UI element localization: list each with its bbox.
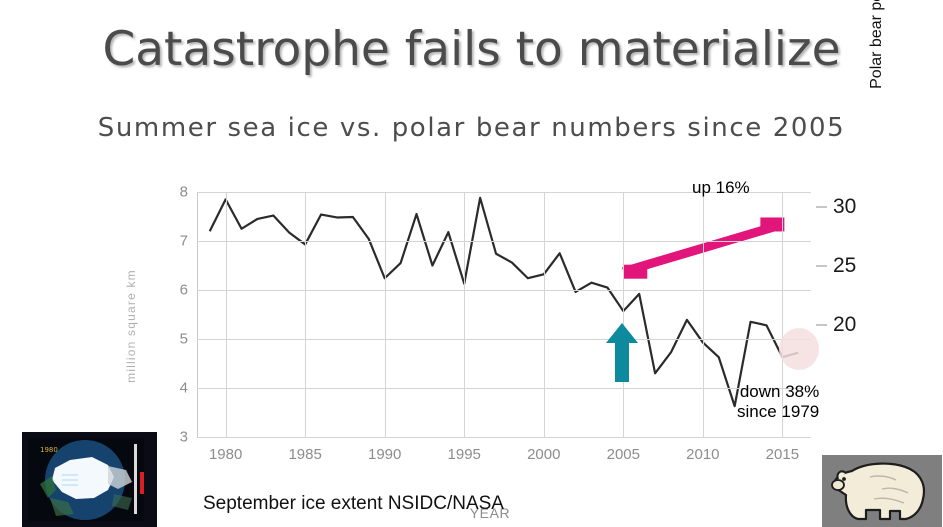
y-axis-tick-mark-right <box>816 324 827 325</box>
y-axis-tick-left: 4 <box>180 380 188 397</box>
annotation-up-16-percent: up 16% <box>692 178 750 198</box>
annotation-down-line1: down 38% <box>737 382 819 402</box>
gridline-vertical <box>464 192 465 437</box>
svg-text:1980: 1980 <box>40 446 58 454</box>
gridline-horizontal <box>197 290 811 291</box>
x-axis-tick: 2005 <box>607 446 640 463</box>
gridline-vertical <box>703 192 704 437</box>
x-axis-tick: 1985 <box>288 446 321 463</box>
gridline-vertical <box>544 192 545 437</box>
y-axis-tick-mark-right <box>816 206 827 207</box>
gridline-horizontal <box>197 388 811 389</box>
x-axis-tick: 2000 <box>527 446 560 463</box>
sea-ice-extent-line <box>210 198 799 406</box>
pink-highlight-blob <box>779 328 819 370</box>
polar-bear-illustration <box>822 455 942 527</box>
slide-root: Catastrophe fails to materialize Summer … <box>0 0 943 527</box>
polar-bear-data-marker <box>760 217 784 231</box>
y-axis-tick-right: 20 <box>833 313 856 337</box>
gridline-horizontal <box>197 241 811 242</box>
gridline-vertical <box>305 192 306 437</box>
y-axis-label-right: Polar bear population numbers (thousands… <box>868 0 886 100</box>
y-axis-tick-left: 5 <box>180 331 188 348</box>
gridline-horizontal <box>197 437 811 438</box>
y-axis-tick-right: 25 <box>833 254 856 278</box>
x-axis-tick: 1995 <box>448 446 481 463</box>
x-axis-tick: 2010 <box>686 446 719 463</box>
page-subtitle: Summer sea ice vs. polar bear numbers si… <box>0 113 943 143</box>
chart-plot-area: 3456781980198519901995200020052010201520… <box>197 192 811 437</box>
gridline-vertical <box>623 192 624 437</box>
y-axis-tick-right: 30 <box>833 195 856 219</box>
y-axis-tick-mark-right <box>816 265 827 266</box>
polar-bear-data-marker <box>623 265 647 279</box>
teal-up-arrow-icon <box>606 323 638 382</box>
chart-series-layer <box>197 192 811 437</box>
page-title: Catastrophe fails to materialize <box>0 22 943 77</box>
x-axis-tick: 1980 <box>209 446 242 463</box>
gridline-vertical <box>226 192 227 437</box>
y-axis-tick-left: 6 <box>180 282 188 299</box>
gridline-vertical <box>385 192 386 437</box>
chart-container: million square km 3456781980198519901995… <box>137 178 843 473</box>
annotation-down-line2: since 1979 <box>737 402 819 422</box>
chart-source-caption: September ice extent NSIDC/NASA <box>203 493 504 515</box>
x-axis-tick: 2015 <box>766 446 799 463</box>
annotation-down-38-percent: down 38% since 1979 <box>737 382 819 422</box>
gridline-horizontal <box>197 339 811 340</box>
y-axis-label-left: million square km <box>124 269 138 383</box>
y-axis-tick-left: 7 <box>180 233 188 250</box>
y-axis-tick-left: 8 <box>180 184 188 201</box>
y-axis-tick-left: 3 <box>180 429 188 446</box>
x-axis-tick: 1990 <box>368 446 401 463</box>
arctic-sea-ice-satellite-photo: 1980 <box>22 432 157 527</box>
